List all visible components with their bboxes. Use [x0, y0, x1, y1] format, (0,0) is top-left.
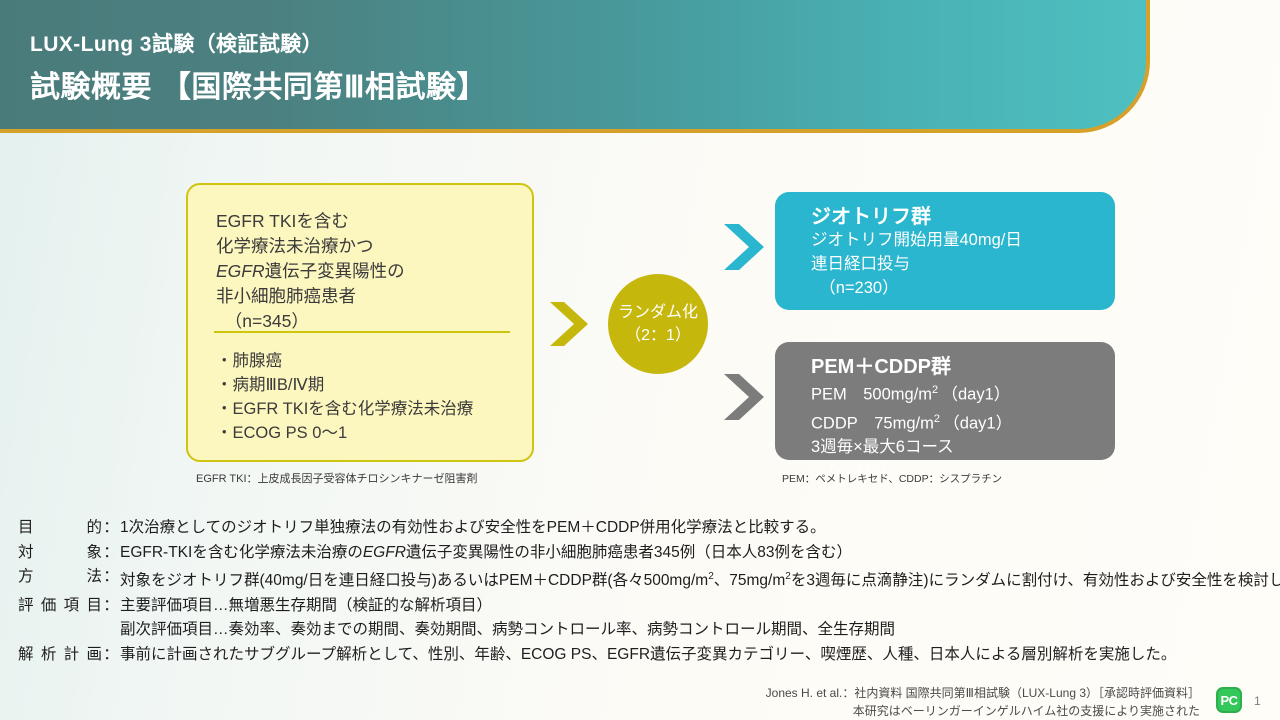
summary-row-text: 1次治療としてのジオトリフ単独療法の有効性および安全性をPEM＋CDDP併用化学…	[120, 516, 1268, 541]
summary-row: 方法：対象をジオトリフ群(40mg/日を連日経口投与)あるいはPEM＋CDDP群…	[18, 565, 1268, 594]
population-criteria-list: ・肺腺癌 ・病期ⅢB/Ⅳ期 ・EGFR TKIを含む化学療法未治療 ・ECOG …	[216, 349, 473, 445]
citation-text: Jones H. et al.：社内資料 国際共同第Ⅲ相試験（LUX-Lung …	[766, 684, 1200, 720]
population-box: EGFR TKIを含む化学療法未治療かつEGFR遺伝子変異陽性の非小細胞肺癌患者…	[186, 183, 534, 462]
page-number: 1	[1254, 694, 1261, 708]
summary-row-label: 目的	[18, 516, 102, 541]
study-summary-block: 目的：1次治療としてのジオトリフ単独療法の有効性および安全性をPEM＋CDDP併…	[18, 516, 1268, 667]
summary-row-label: 評価項目	[18, 594, 102, 619]
randomization-label: ランダム化	[618, 301, 698, 324]
summary-row-label: 解析計画	[18, 643, 102, 668]
summary-row-colon: ：	[102, 565, 120, 590]
footnote-egfr-tki: EGFR TKI：上皮成長因子受容体チロシンキナーゼ阻害剤	[196, 470, 478, 486]
summary-row-text: 主要評価項目…無増悪生存期間（検証的な解析項目）	[120, 594, 1268, 619]
summary-row-colon: ：	[102, 643, 120, 668]
summary-row-colon: ：	[102, 541, 120, 566]
summary-row-colon: ：	[102, 594, 120, 619]
arm-pem-cddp-details: PEM 500mg/m2 （day1）CDDP 75mg/m2 （day1）3週…	[811, 378, 1012, 483]
chevron-right-icon-arm-pem-cddp	[722, 372, 766, 422]
footnote-pem-cddp: PEM：ペメトレキセド、CDDP：シスプラチン	[782, 471, 1002, 486]
treatment-arm-giotrif: ジオトリフ群 ジオトリフ開始用量40mg/日連日経口投与 （n=230）	[775, 192, 1115, 310]
summary-row: 解析計画：事前に計画されたサブグループ解析として、性別、年齢、ECOG PS、E…	[18, 643, 1268, 668]
summary-row-label: 対象	[18, 541, 102, 566]
pc-logo-icon: PC	[1216, 687, 1242, 713]
arm-pem-cddp-title: PEM＋CDDP群	[811, 350, 951, 379]
chevron-right-icon-arm-giotrif	[722, 222, 766, 272]
summary-row-colon: ：	[102, 516, 120, 541]
summary-row: 評価項目：主要評価項目…無増悪生存期間（検証的な解析項目）	[18, 594, 1268, 619]
randomization-ratio: （2：1）	[625, 324, 691, 347]
chevron-right-icon-randomization	[548, 300, 590, 348]
study-design-diagram: EGFR TKIを含む化学療法未治療かつEGFR遺伝子変異陽性の非小細胞肺癌患者…	[0, 0, 1280, 500]
summary-row: 対象：EGFR-TKIを含む化学療法未治療のEGFR遺伝子変異陽性の非小細胞肺癌…	[18, 541, 1268, 566]
arm-giotrif-title: ジオトリフ群	[811, 200, 931, 229]
summary-row-text: 対象をジオトリフ群(40mg/日を連日経口投与)あるいはPEM＋CDDP群(各々…	[120, 565, 1280, 594]
summary-row-text: 事前に計画されたサブグループ解析として、性別、年齢、ECOG PS、EGFR遺伝…	[120, 643, 1268, 668]
population-divider	[214, 331, 510, 333]
population-description: EGFR TKIを含む化学療法未治療かつEGFR遺伝子変異陽性の非小細胞肺癌患者…	[216, 209, 405, 334]
randomization-node: ランダム化 （2：1）	[608, 274, 708, 374]
treatment-arm-pem-cddp: PEM＋CDDP群 PEM 500mg/m2 （day1）CDDP 75mg/m…	[775, 342, 1115, 460]
secondary-endpoint-row: 副次評価項目…奏効率、奏効までの期間、奏効期間、病勢コントロール率、病勢コントロ…	[18, 618, 1268, 643]
summary-row: 目的：1次治療としてのジオトリフ単独療法の有効性および安全性をPEM＋CDDP併…	[18, 516, 1268, 541]
summary-row-text: EGFR-TKIを含む化学療法未治療のEGFR遺伝子変異陽性の非小細胞肺癌患者3…	[120, 541, 1268, 566]
arm-giotrif-details: ジオトリフ開始用量40mg/日連日経口投与 （n=230）	[811, 228, 1022, 300]
summary-rows: 目的：1次治療としてのジオトリフ単独療法の有効性および安全性をPEM＋CDDP併…	[18, 516, 1268, 667]
summary-row-label: 方法	[18, 565, 102, 590]
